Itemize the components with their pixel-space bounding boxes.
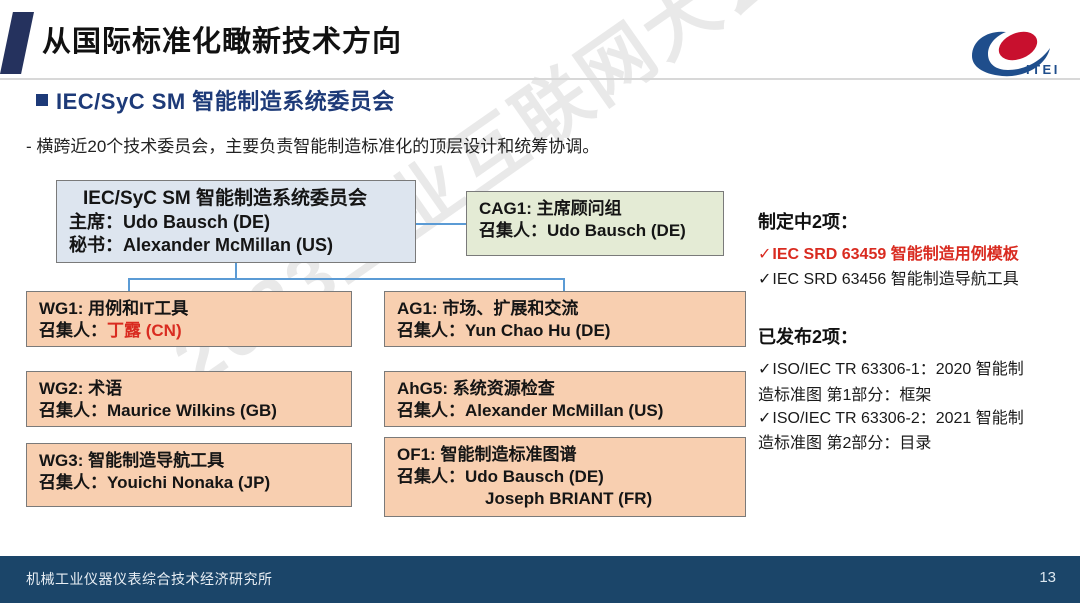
connector-bus [128,278,565,280]
node-wg2-convener: Maurice Wilkins (GB) [107,401,277,420]
node-wg2-convener-line: 召集人：Maurice Wilkins (GB) [39,400,341,422]
section-note: - 横跨近20个技术委员会，主要负责智能制造标准化的顶层设计和统筹协调。 [26,132,599,157]
node-syc-sm-chair: 主席：Udo Bausch (DE) [69,211,405,234]
in-progress-item-text: IEC SRD 63456 智能制造导航工具 [772,271,1018,288]
node-ag1-convener: Yun Chao Hu (DE) [465,321,610,340]
published-item: ✓ISO/IEC TR 63306-2：2021 智能制 [758,407,1070,430]
published-heading: 已发布2项： [758,323,1070,349]
node-of1-convener-line: 召集人：Udo Bausch (DE) [397,466,735,488]
published-item-continuation: 造标准图 第2部分：目录 [758,432,1070,455]
published-item-continuation: 造标准图 第1部分：框架 [758,384,1070,407]
node-wg3-convener: Youichi Nonaka (JP) [107,473,270,492]
node-syc-sm-title: IEC/SyC SM 智能制造系统委员会 [69,187,405,211]
node-wg2-convener-label: 召集人： [39,401,107,420]
node-ahg5-convener-label: 召集人： [397,401,465,420]
section-heading: IEC/SyC SM 智能制造系统委员会 [56,84,395,116]
connector-root-stem [235,263,237,279]
node-of1-convener: Udo Bausch (DE) [465,467,604,486]
svg-text:ITEI: ITEI [1026,62,1060,77]
page-title: 从国际标准化瞰新技术方向 [42,18,402,60]
node-wg1-convener-label: 召集人： [39,321,107,340]
node-syc-sm: IEC/SyC SM 智能制造系统委员会 主席：Udo Bausch (DE) … [56,180,416,263]
node-wg3-convener-label: 召集人： [39,473,107,492]
check-icon: ✓ [758,246,771,263]
node-wg2: WG2: 术语 召集人：Maurice Wilkins (GB) [26,371,352,427]
node-syc-sm-secretary: 秘书：Alexander McMillan (US) [69,234,405,257]
section-bullet-icon [36,94,48,106]
footer-bar: 机械工业仪器仪表综合技术经济研究所 13 [0,556,1080,603]
node-ahg5-convener-line: 召集人：Alexander McMillan (US) [397,400,735,422]
in-progress-item: ✓IEC SRD 63456 智能制造导航工具 [758,268,1070,291]
node-of1-convener-label: 召集人： [397,467,465,486]
itei-logo: ITEI [966,26,1062,80]
panel-spacer [758,293,1070,323]
connector-bus-to-ag1 [563,278,565,292]
published-item-text: ISO/IEC TR 63306-2：2021 智能制 [772,410,1023,427]
node-ahg5-convener: Alexander McMillan (US) [465,401,663,420]
node-of1: OF1: 智能制造标准图谱 召集人：Udo Bausch (DE) Joseph… [384,437,746,517]
node-cag1: CAG1: 主席顾问组 召集人：Udo Bausch (DE) [466,191,724,256]
check-icon: ✓ [758,361,771,378]
node-wg3-convener-line: 召集人：Youichi Nonaka (JP) [39,472,341,494]
published-item-text: ISO/IEC TR 63306-1：2020 智能制 [772,361,1023,378]
node-wg1-convener-line: 召集人：丁露 (CN) [39,320,341,342]
node-wg1-convener: 丁露 (CN) [107,321,182,340]
check-icon: ✓ [758,271,771,288]
node-ag1-title: AG1: 市场、扩展和交流 [397,298,735,320]
node-wg3-title: WG3: 智能制造导航工具 [39,450,341,472]
node-of1-title: OF1: 智能制造标准图谱 [397,444,735,466]
node-wg3: WG3: 智能制造导航工具 召集人：Youichi Nonaka (JP) [26,443,352,507]
title-divider [0,78,1080,80]
connector-root-to-cag1 [416,223,466,225]
check-icon: ✓ [758,410,771,427]
itei-logo-icon: ITEI [966,26,1062,80]
node-ahg5: AhG5: 系统资源检查 召集人：Alexander McMillan (US) [384,371,746,427]
node-ag1-convener-line: 召集人：Yun Chao Hu (DE) [397,320,735,342]
node-wg1: WG1: 用例和IT工具 召集人：丁露 (CN) [26,291,352,347]
footer-divider [0,547,1080,556]
standards-panel: 制定中2项： ✓IEC SRD 63459 智能制造用例模板 ✓IEC SRD … [758,208,1070,455]
published-item: ✓ISO/IEC TR 63306-1：2020 智能制 [758,358,1070,381]
node-of1-convener-2: Joseph BRIANT (FR) [397,488,735,510]
footer-organization: 机械工业仪器仪表综合技术经济研究所 [26,569,273,589]
node-ag1: AG1: 市场、扩展和交流 召集人：Yun Chao Hu (DE) [384,291,746,347]
in-progress-item-text: IEC SRD 63459 智能制造用例模板 [772,246,1018,263]
node-ahg5-title: AhG5: 系统资源检查 [397,378,735,400]
node-ag1-convener-label: 召集人： [397,321,465,340]
title-accent-shape [0,12,34,74]
footer-page-number: 13 [1039,569,1056,586]
node-wg2-title: WG2: 术语 [39,378,341,400]
in-progress-item: ✓IEC SRD 63459 智能制造用例模板 [758,243,1070,266]
node-wg1-title: WG1: 用例和IT工具 [39,298,341,320]
node-cag1-convener: 召集人：Udo Bausch (DE) [479,220,713,242]
in-progress-heading: 制定中2项： [758,208,1070,234]
connector-bus-to-wg1 [128,278,130,292]
node-cag1-title: CAG1: 主席顾问组 [479,198,713,220]
